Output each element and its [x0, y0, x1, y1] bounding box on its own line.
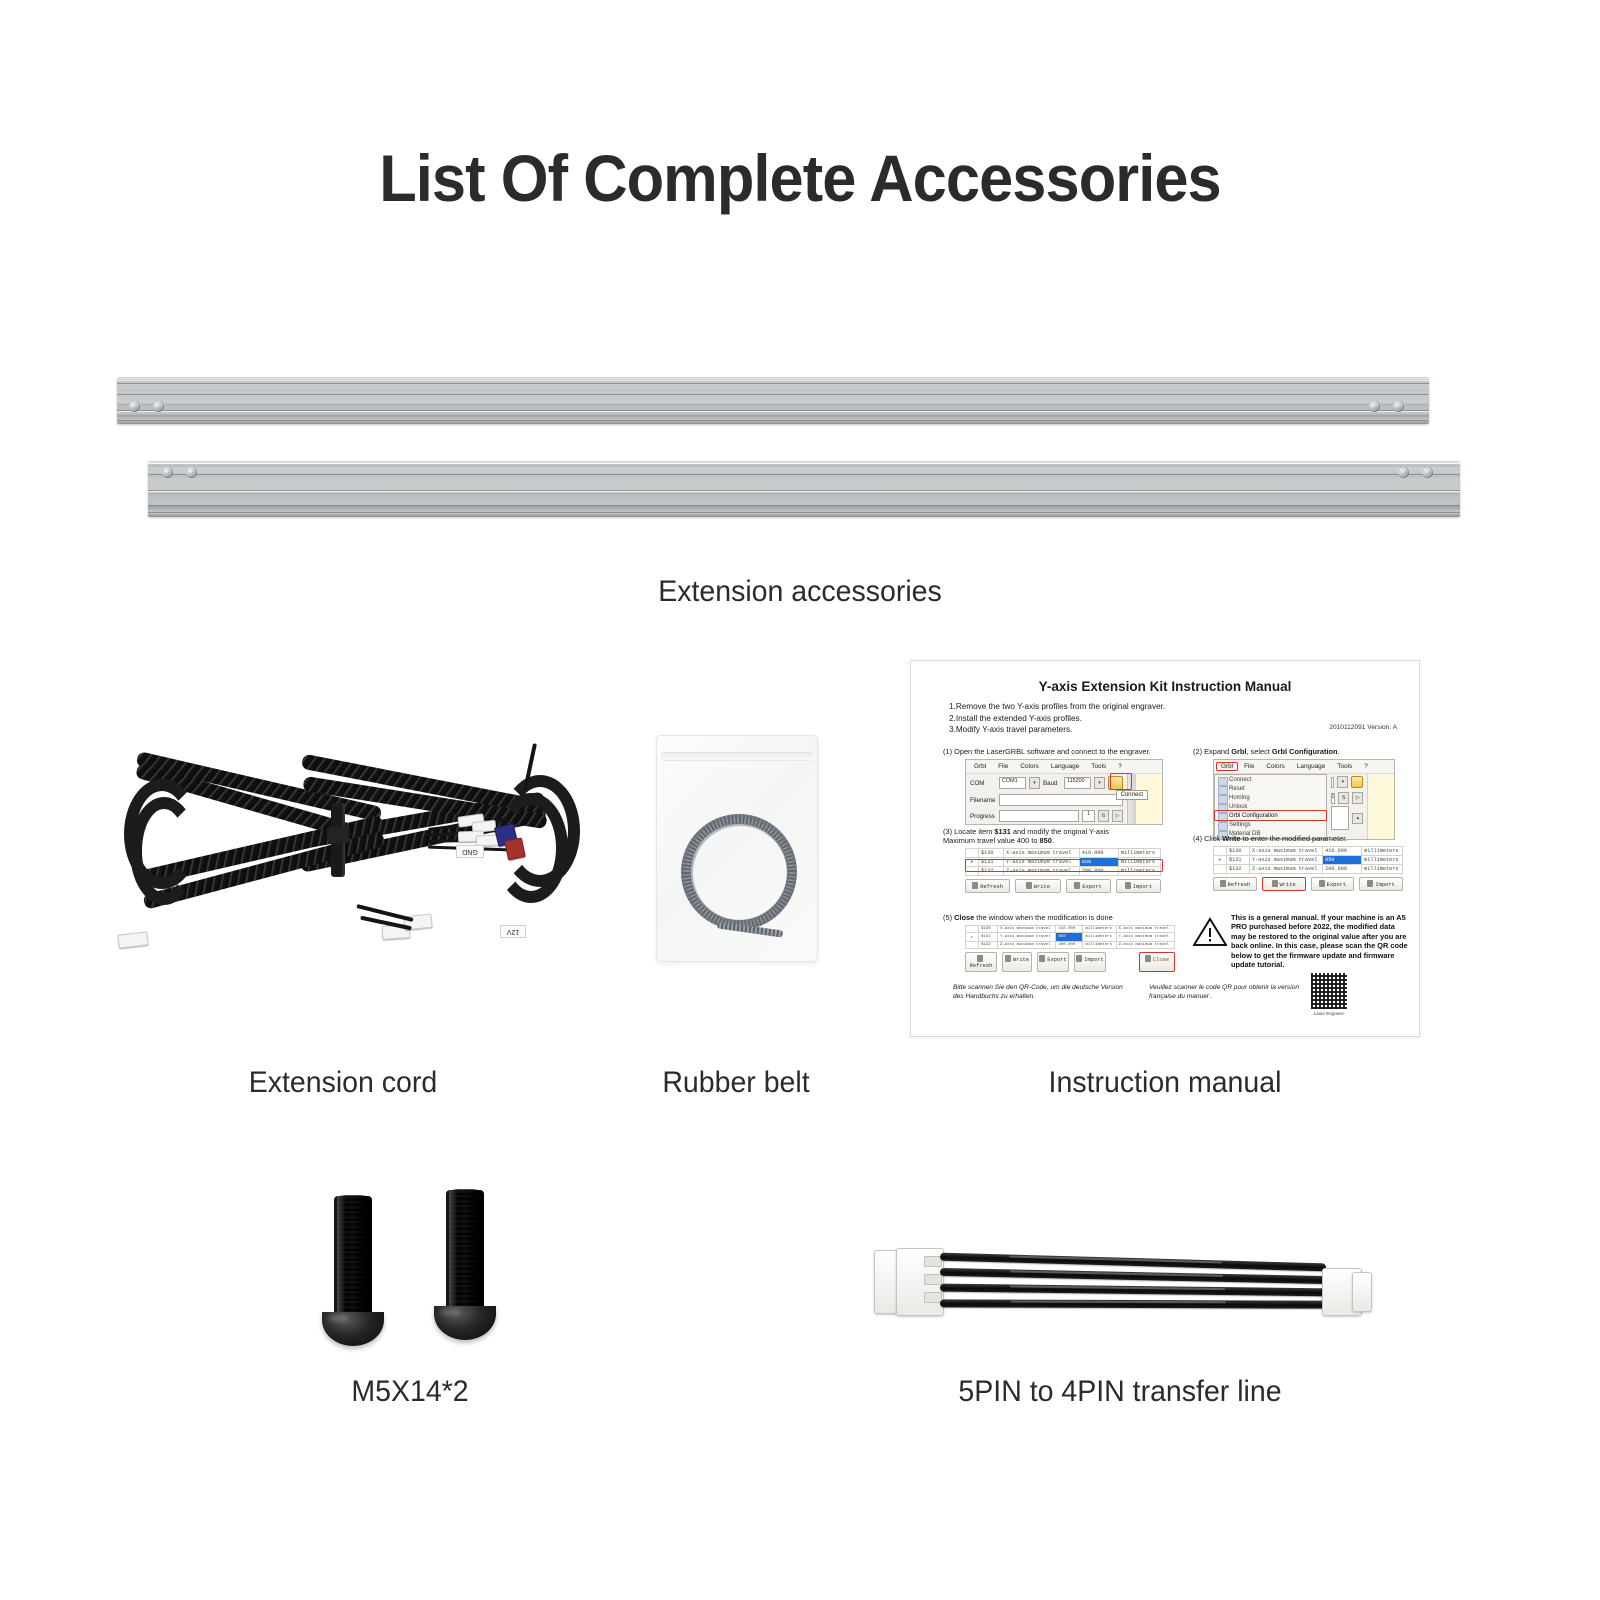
row-name: Y-axis maximum travel [1250, 856, 1323, 865]
grbl-button-row-3: Refresh Write Export Import [1213, 877, 1403, 891]
rail-screw-hole [1369, 401, 1380, 412]
lasergrbl-window-2: Grbl File Colors Language Tools ? Connec… [1213, 759, 1395, 840]
close-button[interactable]: Close [1139, 952, 1175, 972]
rail-highlight [148, 491, 1460, 492]
row-name: X-axis maximum travel [998, 926, 1056, 933]
com-select[interactable]: COM1 [999, 777, 1026, 789]
progress-count[interactable]: 1 [1331, 793, 1336, 804]
manual-steps: 1.Remove the two Y-axis profiles from th… [949, 701, 1165, 736]
menu-file[interactable]: File [1238, 762, 1260, 771]
step2-text: (2) Expand Grbl, select Grbl Configurati… [1193, 747, 1409, 756]
row-value: 200.000 [1056, 942, 1083, 949]
menu-grbl[interactable]: Grbl [1216, 762, 1238, 771]
row-unit: millimeters [1362, 856, 1403, 865]
progress-bar [999, 810, 1079, 822]
aluminium-rail-top [117, 377, 1429, 424]
menu-grbl[interactable]: Grbl [968, 762, 992, 771]
row-name: X-axis maximum travel [1250, 847, 1323, 856]
step3-line2-pre: Maximum travel value 400 to [943, 836, 1040, 845]
progress-row: Progress 1 ⇅ ▷ [966, 808, 1127, 824]
row-id: $131 [1227, 856, 1250, 865]
row-marker: ▸ [966, 858, 979, 867]
cord-label-gnd: GND [456, 845, 484, 858]
row-id: $131 [979, 933, 998, 942]
menu-item-unlock[interactable]: Unlock [1215, 802, 1326, 811]
step3-text: (3) Locate item $131 and modify the orig… [943, 827, 1175, 845]
cord-loop [130, 797, 198, 905]
row-name: Y-axis maximum travel [1004, 858, 1080, 867]
rubber-belt-bag [656, 735, 818, 962]
manual-version: 2010112091 Version: A [1329, 724, 1397, 731]
step3-pre: (3) Locate item [943, 827, 994, 836]
warning-triangle-icon [1193, 919, 1225, 947]
row-id: $132 [979, 867, 1004, 876]
progress-count[interactable]: 1 [1082, 810, 1095, 822]
warning-text: This is a general manual. If your machin… [1231, 913, 1409, 969]
transfer-wire [940, 1268, 1328, 1284]
manual-title: Y-axis Extension Kit Instruction Manual [911, 679, 1419, 694]
row-unit: millimeters [1118, 867, 1160, 876]
menu-help[interactable]: ? [1358, 762, 1374, 771]
row-value[interactable]: 410.000 [1079, 849, 1118, 858]
step3-param: $131 [994, 827, 1010, 836]
screw-m5x14-2 [434, 1190, 496, 1350]
row-id: $131 [979, 858, 1004, 867]
import-label: Import [1084, 957, 1103, 963]
screw-head [434, 1306, 496, 1340]
export-button[interactable]: Export [1066, 879, 1111, 893]
row-id: $132 [979, 942, 998, 949]
row-id: $130 [979, 849, 1004, 858]
rail-groove [148, 474, 1460, 475]
row-unit: millimeters [1083, 926, 1116, 933]
extension-cord-image: GND 12V [128, 735, 558, 950]
write-button[interactable]: Write [1015, 879, 1060, 893]
step2-pre: (2) Expand [1193, 747, 1231, 756]
qr-caption: Laser Engraver [1311, 1011, 1347, 1016]
import-icon [1367, 880, 1373, 887]
play-icon[interactable]: ▷ [1112, 810, 1123, 822]
export-button[interactable]: Export [1037, 952, 1069, 972]
play-icon[interactable]: ▷ [1352, 792, 1363, 804]
step5-text: (5) Close the window when the modificati… [943, 913, 1175, 922]
row-unit: millimeters [1118, 858, 1160, 867]
timing-belt-ring [690, 823, 790, 923]
rail-groove [148, 505, 1460, 506]
row-name: Y-axis maximum travel [998, 933, 1056, 942]
warning-svg [1193, 917, 1227, 947]
screw-thread [446, 1190, 484, 1314]
write-icon [1272, 880, 1278, 887]
manual-section-step2: (2) Expand Grbl, select Grbl Configurati… [1193, 747, 1409, 840]
transfer-wire [940, 1284, 1330, 1297]
baud-select[interactable]: 115200 [1064, 777, 1091, 789]
refresh-icon [977, 955, 983, 962]
transfer-wire [940, 1299, 1332, 1308]
rail-screw-hole [1398, 467, 1409, 478]
row-marker: ▸ [1214, 856, 1227, 865]
write-label: Write [1013, 957, 1029, 963]
screw-m5x14-1 [322, 1196, 384, 1356]
rail-body [148, 461, 1460, 517]
baud-label: Baud [1043, 780, 1061, 787]
export-icon [1319, 880, 1325, 887]
step3-line2-post: . [1052, 836, 1054, 845]
rail-screw-hole [1393, 401, 1404, 412]
import-icon [1076, 955, 1082, 962]
table-row[interactable]: $132 Z-axis maximum travel 200.000 milli… [966, 942, 1175, 949]
menu-language[interactable]: Language [1045, 762, 1085, 771]
row-name: Z-axis maximum travel [1250, 865, 1323, 874]
connector-4pin-body [1352, 1272, 1372, 1312]
import-button[interactable]: Import [1074, 952, 1106, 972]
close-icon [1145, 955, 1151, 962]
row-id: $130 [979, 926, 998, 933]
caption-extension-cord: Extension cord [144, 1066, 543, 1100]
screw-head [322, 1312, 384, 1346]
table-row[interactable]: $132 Z-axis maximum travel 200.000 milli… [1214, 865, 1403, 874]
step5-action: Close [954, 913, 974, 922]
write-button[interactable]: Write [1262, 877, 1306, 891]
write-button[interactable]: Write [1002, 952, 1032, 972]
menu-colors[interactable]: Colors [1260, 762, 1290, 771]
table-row[interactable]: ▸ $131 Y-axis maximum travel 850 millime… [966, 933, 1175, 942]
row-unit: millimeters [1083, 942, 1116, 949]
page-title: List Of Complete Accessories [56, 140, 1544, 216]
rail-screw-hole [153, 401, 164, 412]
row-desc: X-axis maximum travel [1116, 926, 1174, 933]
step1-text: (1) Open the LaserGRBL software and conn… [943, 747, 1175, 756]
import-label: Import [1375, 882, 1394, 888]
cable-tie [331, 803, 345, 877]
row-name: Z-axis maximum travel [998, 942, 1056, 949]
row-marker [966, 867, 979, 876]
step2-mid: , select [1246, 747, 1271, 756]
refresh-icon [1220, 880, 1226, 887]
scroll-up-icon[interactable]: ▴ [1352, 813, 1363, 824]
refresh-icon [972, 882, 978, 889]
cord-label-12v: 12V [500, 925, 526, 938]
step4-post: to enter the modified parameter. [1241, 834, 1348, 843]
row-value[interactable]: 850 [1079, 858, 1118, 867]
cord-connector [117, 931, 148, 949]
row-unit: millimeters [1362, 847, 1403, 856]
step2-end: . [1338, 747, 1340, 756]
rail-groove [117, 394, 1429, 395]
table-row[interactable]: ▸ $131 Y-axis maximum travel 850 millime… [966, 858, 1161, 867]
filename-row: Filename [966, 792, 1127, 808]
connect-button[interactable] [1351, 776, 1363, 788]
editor-row: ▴ [1327, 806, 1368, 832]
menu-help[interactable]: ? [1112, 762, 1128, 771]
menu-item-connect[interactable]: Connect [1215, 775, 1326, 784]
caption-instruction-manual: Instruction manual [1018, 1066, 1313, 1100]
screw-thread [334, 1196, 372, 1320]
lasergrbl-window-1: Grbl File Colors Language Tools ? COM CO… [965, 759, 1163, 825]
spinner-icon[interactable]: ⇅ [1338, 792, 1349, 804]
import-button[interactable]: Import [1116, 879, 1161, 893]
lasergrbl-menubar: Grbl File Colors Language Tools ? [966, 760, 1162, 774]
rail-screw-hole [1422, 467, 1433, 478]
caption-transfer-line: 5PIN to 4PIN transfer line [873, 1375, 1367, 1409]
step5-post: the window when the modification is done [974, 913, 1112, 922]
table-row[interactable]: $130 X-axis maximum travel 410.000 milli… [1214, 847, 1403, 856]
lasergrbl-menubar-2: Grbl File Colors Language Tools ? [1214, 760, 1394, 774]
refresh-button[interactable]: Refresh [965, 952, 997, 972]
step2-menu-name: Grbl [1231, 747, 1246, 756]
table-row[interactable]: $130 X-axis maximum travel 410.000 milli… [966, 926, 1175, 933]
rail-groove [117, 420, 1429, 421]
param-table-wrap-3: $130 X-axis maximum travel 410.000 milli… [1213, 846, 1403, 891]
refresh-button[interactable]: Refresh [1213, 877, 1257, 891]
step2-item-name: Grbl Configuration [1272, 747, 1338, 756]
export-icon [1074, 882, 1080, 889]
com-row: COM COM1 ▾ Baud 115200 ▾ [966, 774, 1127, 792]
chevron-down-icon[interactable]: ▾ [1029, 777, 1040, 789]
export-button[interactable]: Export [1311, 877, 1355, 891]
caption-screws: M5X14*2 [268, 1375, 553, 1409]
row-value: 850 [1056, 933, 1083, 942]
rail-screw-hole [129, 401, 140, 412]
import-button[interactable]: Import [1359, 877, 1403, 891]
step4-pre: (4) Click [1193, 834, 1222, 843]
rail-highlight [117, 380, 1429, 381]
qr-code[interactable] [1311, 973, 1347, 1009]
rail-body [117, 377, 1429, 424]
grbl-button-row-2: Refresh Write Export Import Close [965, 952, 1175, 972]
caption-rubber-belt: Rubber belt [632, 1066, 841, 1100]
row-desc: Z-axis maximum travel [1116, 942, 1174, 949]
grbl-parameter-table-wide: $130 X-axis maximum travel 410.000 milli… [965, 925, 1175, 949]
cord-connector-red [504, 837, 526, 860]
step5-pre: (5) [943, 913, 954, 922]
row-id: $130 [1227, 847, 1250, 856]
manual-section-step1: (1) Open the LaserGRBL software and conn… [943, 747, 1175, 825]
param-table-wrap-1: $130 X-axis maximum travel 410.000 milli… [965, 848, 1161, 893]
section-caption: Extension accessories [40, 575, 1560, 609]
row-id: $132 [1227, 865, 1250, 874]
row-value[interactable]: 200.000 [1079, 867, 1118, 876]
com-row-2: ▾ [1327, 774, 1368, 790]
preview-pane [1367, 774, 1394, 839]
step4-action: Write [1222, 834, 1240, 843]
menu-item-reset[interactable]: Reset [1215, 784, 1326, 793]
menu-item-settings[interactable]: Settings [1215, 820, 1326, 829]
menu-file[interactable]: File [992, 762, 1014, 771]
write-icon [1026, 882, 1032, 889]
progress-label: Progress [970, 813, 996, 820]
rail-groove [117, 383, 1429, 384]
manual-section-step4: (4) Click Write to enter the modified pa… [1193, 834, 1409, 891]
row-value: 200.000 [1323, 865, 1362, 874]
rail-groove [148, 512, 1460, 513]
import-icon [1125, 882, 1131, 889]
menu-item-homing[interactable]: Homing [1215, 793, 1326, 802]
export-label: Export [1082, 884, 1101, 890]
menu-language[interactable]: Language [1291, 762, 1331, 771]
param-table-wrap-2: $130 X-axis maximum travel 410.000 milli… [965, 925, 1175, 972]
rail-screw-hole [162, 467, 173, 478]
refresh-button[interactable]: Refresh [965, 879, 1010, 893]
row-desc: Y-axis maximum travel [1116, 933, 1174, 942]
table-row[interactable]: $132 Z-axis maximum travel 200.000 milli… [966, 867, 1161, 876]
manual-warning-block: This is a general manual. If your machin… [1193, 913, 1409, 969]
row-unit: millimeters [1362, 865, 1403, 874]
manual-section-step5: (5) Close the window when the modificati… [943, 913, 1175, 972]
menu-item-grbl-configuration[interactable]: Grbl Configuration [1215, 811, 1326, 820]
grbl-parameter-table-2: $130 X-axis maximum travel 410.000 milli… [1213, 846, 1403, 874]
step3-value: 850 [1040, 836, 1052, 845]
manual-step-1: 1.Remove the two Y-axis profiles from th… [949, 701, 1165, 713]
manual-note-german: Bitte scannen Sie den QR-Code, um die de… [953, 983, 1135, 1001]
connect-button[interactable] [1108, 776, 1123, 790]
refresh-label: Refresh [970, 963, 993, 969]
step4-text: (4) Click Write to enter the modified pa… [1193, 834, 1409, 843]
chevron-down-icon[interactable]: ▾ [1337, 776, 1348, 788]
row-unit: millimeters [1118, 849, 1160, 858]
row-value: 850 [1323, 856, 1362, 865]
connector-pin [924, 1274, 942, 1285]
transfer-line-image [866, 1232, 1378, 1337]
grbl-parameter-table: $130 X-axis maximum travel 410.000 milli… [965, 848, 1161, 876]
write-label: Write [1034, 884, 1050, 890]
manual-step-2: 2.Install the extended Y-axis profiles. [949, 713, 1165, 725]
connect-tooltip: Connect [1116, 790, 1148, 800]
chevron-down-icon[interactable]: ▾ [1094, 777, 1105, 789]
row-marker [966, 849, 979, 858]
row-unit: millimeters [1083, 933, 1116, 942]
rail-highlight [148, 463, 1460, 464]
instruction-manual-image: Y-axis Extension Kit Instruction Manual … [910, 660, 1420, 1037]
row-value: 410.000 [1056, 926, 1083, 933]
table-row[interactable]: ▸ $131 Y-axis maximum travel 850 millime… [1214, 856, 1403, 865]
rail-highlight [117, 411, 1429, 412]
write-icon [1005, 955, 1011, 962]
row-name: X-axis maximum travel [1004, 849, 1080, 858]
bag-zip-seal [661, 752, 813, 761]
spinner-icon[interactable]: ⇅ [1098, 810, 1109, 822]
grbl-dropdown-menu: Connect Reset Homing Unlock Grbl Configu… [1214, 774, 1327, 839]
export-label: Export [1047, 957, 1066, 963]
manual-note-french: Veuillez scanner le code QR pour obtenir… [1149, 983, 1309, 1001]
rail-screw-hole [186, 467, 197, 478]
step3-post: and modify the original Y-axis [1011, 827, 1109, 836]
aluminium-rail-bottom [148, 461, 1460, 517]
menu-tools[interactable]: Tools [1085, 762, 1112, 771]
menu-colors[interactable]: Colors [1014, 762, 1044, 771]
filename-input[interactable] [999, 794, 1123, 806]
grbl-button-row: Refresh Write Export Import [965, 879, 1161, 893]
row-marker: ▸ [966, 933, 979, 942]
progress-row-2: 1 ⇅ ▷ [1327, 790, 1368, 806]
menu-tools[interactable]: Tools [1331, 762, 1358, 771]
export-icon [1039, 955, 1045, 962]
refresh-label: Refresh [1228, 882, 1251, 888]
row-value: 410.000 [1323, 847, 1362, 856]
export-label: Export [1327, 882, 1346, 888]
manual-step-3: 3.Modify Y-axis travel parameters. [949, 724, 1165, 736]
close-label: Close [1153, 957, 1169, 963]
manual-section-step3: (3) Locate item $131 and modify the orig… [943, 827, 1175, 893]
write-label: Write [1280, 882, 1296, 888]
com-label: COM [970, 780, 996, 787]
import-label: Import [1133, 884, 1152, 890]
refresh-label: Refresh [980, 884, 1003, 890]
row-name: Z-axis maximum travel [1004, 867, 1080, 876]
table-row[interactable]: $130 X-axis maximum travel 410.000 milli… [966, 849, 1161, 858]
filename-label: Filename [970, 797, 996, 804]
accessories-page: List Of Complete Accessories Extension a… [0, 0, 1600, 1600]
